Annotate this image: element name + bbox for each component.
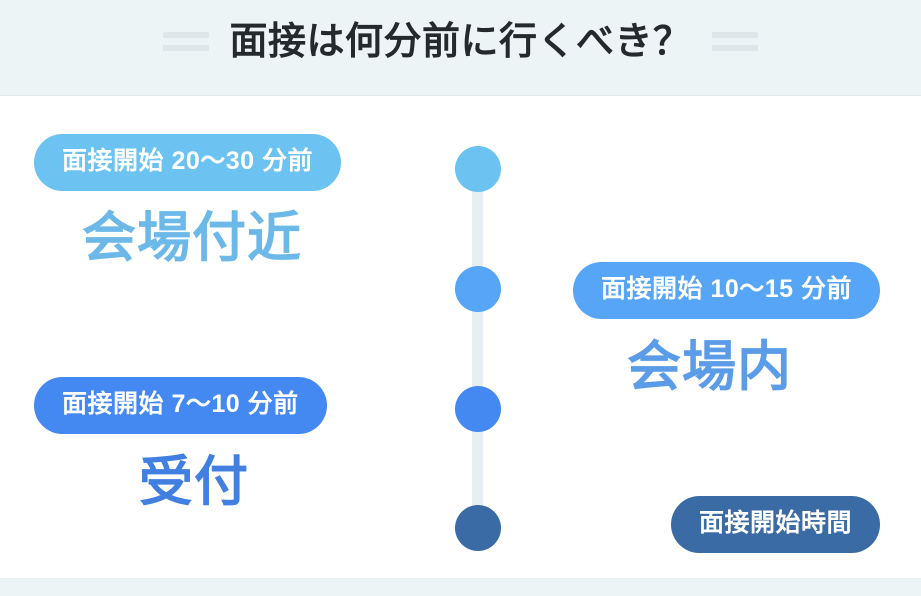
stage-1-time-badge: 面接開始 20〜30 分前 xyxy=(34,134,341,191)
header-band: 面接は何分前に行くべき？ xyxy=(0,0,921,96)
timeline-dot-stage-2 xyxy=(455,266,501,312)
title-decoration-left-icon xyxy=(163,32,209,51)
stage-reception: 面接開始 7〜10 分前 受付 xyxy=(34,377,327,509)
timeline-dot-stage-3 xyxy=(455,386,501,432)
interview-timing-infographic: 面接は何分前に行くべき？ 面接開始 20〜30 分前 会場付近 面接開始 10〜… xyxy=(0,0,921,596)
stage-3-time-badge: 面接開始 7〜10 分前 xyxy=(34,377,327,434)
timeline-dot-stage-4 xyxy=(455,505,501,551)
stage-inside-venue: 面接開始 10〜15 分前 会場内 xyxy=(573,262,880,394)
stage-2-time-badge: 面接開始 10〜15 分前 xyxy=(573,262,880,319)
stage-interview-start: 面接開始時間 xyxy=(671,496,880,553)
stage-4-time-badge: 面接開始時間 xyxy=(671,496,880,553)
timeline xyxy=(455,130,501,550)
stage-venue-vicinity: 面接開始 20〜30 分前 会場付近 xyxy=(34,134,341,265)
stage-1-title: 会場付近 xyxy=(82,211,302,265)
stage-3-title: 受付 xyxy=(139,455,249,509)
timeline-connector-line xyxy=(472,150,483,535)
stage-2-title: 会場内 xyxy=(627,340,792,394)
footer-band xyxy=(0,578,921,596)
title-row: 面接は何分前に行くべき？ xyxy=(163,0,757,86)
page-title: 面接は何分前に行くべき？ xyxy=(229,23,691,61)
timeline-dot-stage-1 xyxy=(455,146,501,192)
title-decoration-right-icon xyxy=(712,32,758,51)
